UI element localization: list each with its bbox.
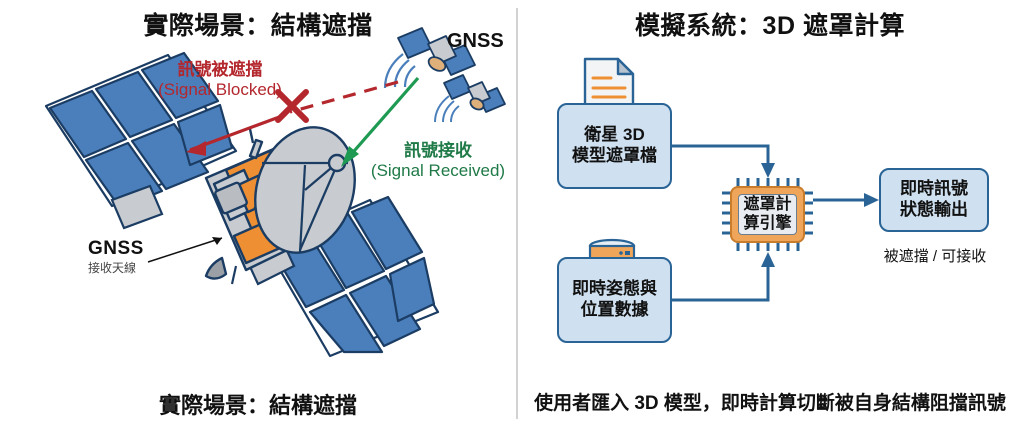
- node-output-line2: 狀態輸出: [900, 200, 968, 221]
- node-engine-line2: 算引擎: [743, 215, 791, 233]
- arrowhead-up: [761, 252, 775, 267]
- node-data-line2: 位置數據: [572, 300, 657, 321]
- node-satellite-3d-model[interactable]: 衛星 3D 模型遮罩檔: [557, 103, 672, 189]
- arrowhead-down: [761, 163, 775, 178]
- connector-data-to-engine: [672, 262, 768, 300]
- arrowhead-right: [864, 193, 879, 207]
- node-mask-compute-engine[interactable]: 遮罩計 算引擎: [722, 178, 813, 251]
- connector-model-to-engine: [672, 146, 768, 168]
- node-engine-line1: 遮罩計: [743, 196, 791, 214]
- node-data-line1: 即時姿態與: [572, 279, 657, 300]
- node-model-line2: 模型遮罩檔: [572, 146, 657, 167]
- diagram-canvas: 實際場景：結構遮擋: [0, 0, 1024, 427]
- node-model-line1: 衛星 3D: [572, 125, 657, 146]
- right-panel-caption: 使用者匯入 3D 模型，即時計算切斷被自身結構阻擋訊號: [516, 388, 1024, 415]
- chip-core-label: 遮罩計 算引擎: [738, 194, 797, 235]
- node-realtime-signal-status-output[interactable]: 即時訊號 狀態輸出: [879, 168, 989, 232]
- node-realtime-attitude-data[interactable]: 即時姿態與 位置數據: [557, 257, 672, 343]
- flow-connectors: [0, 0, 1024, 427]
- node-output-line1: 即時訊號: [900, 179, 968, 200]
- output-sub-caption: 被遮擋 / 可接收: [869, 245, 1001, 266]
